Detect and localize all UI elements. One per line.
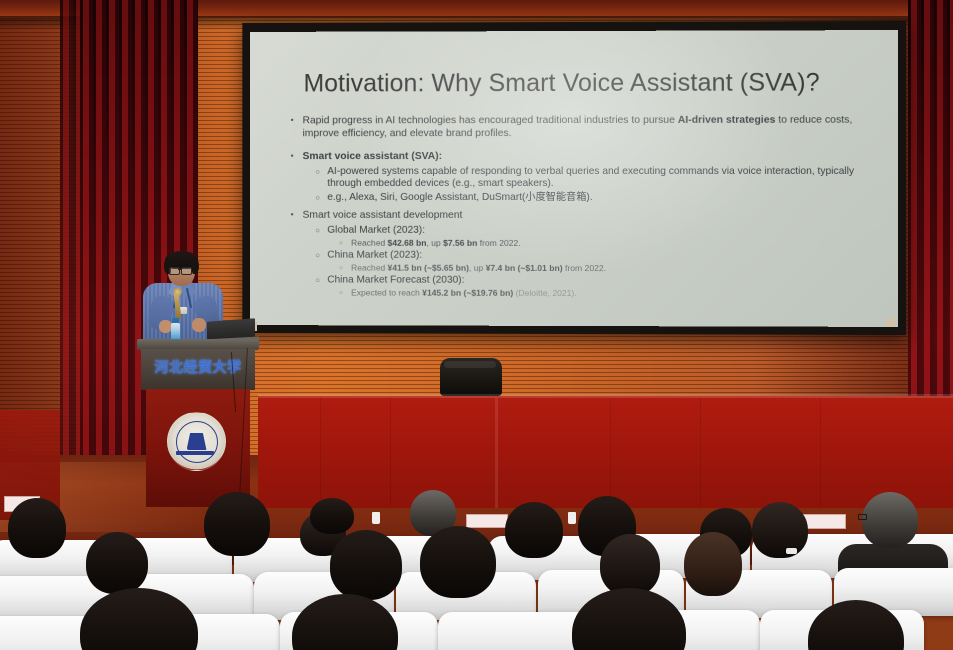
audience-head-r3-2 (204, 492, 270, 556)
stage-chair-highlight (444, 361, 496, 368)
bullet-text-part1: Rapid progress in AI technologies has en… (303, 115, 678, 126)
cm-value1: ¥41.5 bn (~$5.65 bn) (388, 263, 469, 273)
bullet-china-forecast: China Market Forecast (2030): (290, 274, 880, 288)
gm-value2: $7.56 bn (443, 238, 477, 248)
bullet-development-heading: Smart voice assistant development (290, 210, 880, 223)
cm-value2: ¥7.4 bn (~$1.01 bn) (486, 263, 563, 273)
audience-head-r2-5 (684, 532, 742, 596)
speaker-hand-right (192, 318, 206, 332)
bullet-global-market: Global Market (2023): (290, 224, 880, 237)
stage-table-skirt-edge (258, 394, 953, 398)
fc-text1: Expected to reach (351, 288, 422, 298)
bullet-text-bold: AI-driven strategies (678, 115, 776, 126)
cm-text1: Reached (351, 263, 387, 273)
slide-title: Motivation: Why Smart Voice Assistant (S… (304, 68, 820, 98)
name-card-2 (466, 514, 508, 528)
audience-glasses-icon (858, 514, 867, 520)
speaker-glasses-right-lens (181, 267, 192, 275)
speaker-hair-side-right (192, 258, 199, 274)
gm-text3: from 2022. (477, 238, 520, 248)
speaker-glasses-bridge (178, 269, 181, 270)
cm-text3: from 2022. (563, 263, 606, 273)
audience-area (0, 488, 953, 650)
bullet-china-forecast-detail: Expected to reach ¥145.2 bn (~$19.76 bn)… (290, 287, 880, 299)
audience-head-r3-6 (505, 502, 563, 558)
audience-head-r2-1 (86, 532, 148, 594)
projection-screen[interactable]: Motivation: Why Smart Voice Assistant (S… (250, 30, 898, 327)
bullet-china-market-detail: Reached ¥41.5 bn (~$5.65 bn), up ¥7.4 bn… (290, 263, 880, 275)
gm-text2: , up (426, 238, 443, 248)
audience-head-r2-4 (600, 534, 660, 596)
cup-1 (372, 512, 380, 524)
emblem-base-bar (176, 451, 214, 455)
audience-head-r3-10 (862, 492, 918, 548)
sva-heading-text: Smart voice assistant (SVA): (303, 151, 443, 162)
audience-head-r2-3 (420, 526, 496, 598)
podium-institution-name: 河北经贸大学 (141, 355, 255, 379)
audience-head-r3-9 (752, 502, 808, 558)
audience-head-r3-1 (8, 498, 66, 558)
bullet-global-market-detail: Reached $42.68 bn, up $7.56 bn from 2022… (290, 238, 880, 249)
fc-citation: (Deloitte, 2021). (513, 288, 576, 298)
bullet-sva-examples: e.g., Alexa, Siri, Google Assistant, DuS… (290, 192, 880, 205)
bullet-rapid-progress: Rapid progress in AI technologies has en… (290, 115, 880, 141)
auditorium-scene: Motivation: Why Smart Voice Assistant (S… (0, 0, 953, 650)
cm-text2: , up (469, 263, 486, 273)
audience-head-r2-2 (330, 530, 402, 600)
presentation-slide: Motivation: Why Smart Voice Assistant (S… (250, 30, 898, 327)
gm-text1: Reached (351, 238, 387, 248)
screen-corner-bottom-right (886, 318, 896, 327)
audience-head-r3-4 (310, 498, 354, 534)
cup-2 (568, 512, 576, 524)
bullet-sva-definition: AI-powered systems capable of responding… (290, 166, 880, 191)
fc-value1: ¥145.2 bn (~$19.76 bn) (422, 288, 513, 298)
university-emblem-icon (167, 412, 226, 471)
emblem-inner-ring (176, 421, 218, 463)
slide-bullet-list: Rapid progress in AI technologies has en… (290, 115, 880, 301)
hair-clip-icon (786, 548, 797, 554)
emblem-core-shape (187, 433, 207, 450)
bullet-sva-heading: Smart voice assistant (SVA): (290, 151, 880, 164)
gm-value1: $42.68 bn (388, 238, 427, 248)
bullet-china-market: China Market (2023): (290, 249, 880, 262)
